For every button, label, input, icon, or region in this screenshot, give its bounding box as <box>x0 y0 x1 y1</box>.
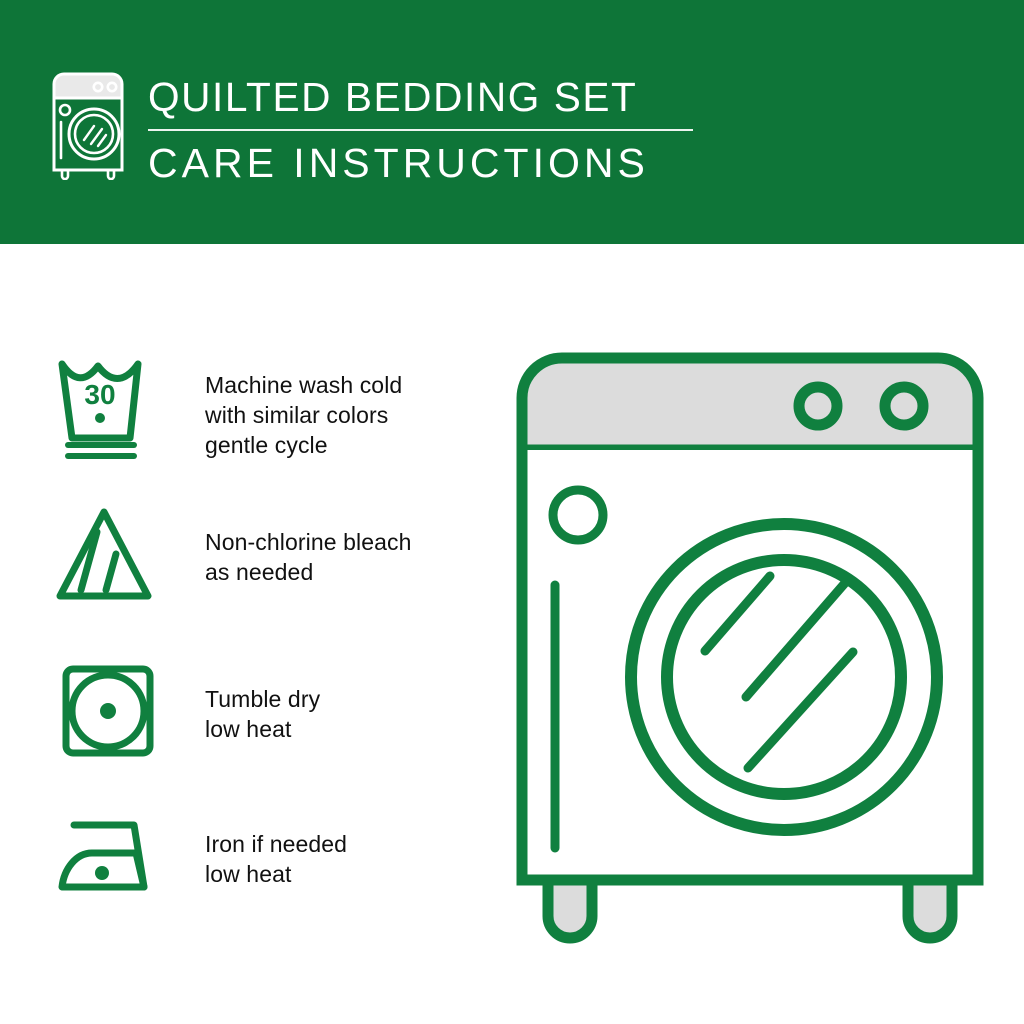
care-row-iron: Iron if needed low heat <box>0 809 490 959</box>
header-band: QUILTED BEDDING SET CARE INSTRUCTIONS <box>0 0 1024 244</box>
title-divider <box>148 129 693 131</box>
control-panel <box>522 358 978 450</box>
leg-left <box>548 880 592 938</box>
care-text-tumble-dry: Tumble dry low heat <box>205 684 320 744</box>
machine-body <box>522 450 978 880</box>
washing-machine-illustration <box>500 340 1000 960</box>
care-text-wash: Machine wash cold with similar colors ge… <box>205 370 402 460</box>
washing-machine-icon <box>46 72 130 180</box>
header-title-block: QUILTED BEDDING SET CARE INSTRUCTIONS <box>148 74 708 187</box>
tumble-dry-low-heat-icon <box>52 659 164 769</box>
iron-low-heat-icon <box>52 809 164 919</box>
page-subtitle: CARE INSTRUCTIONS <box>148 139 708 187</box>
care-text-bleach: Non-chlorine bleach as needed <box>205 527 411 587</box>
leg-right <box>908 880 952 938</box>
svg-text:30: 30 <box>84 379 115 410</box>
wash-tub-30-gentle-icon: 30 <box>52 352 164 462</box>
page-title: QUILTED BEDDING SET <box>148 74 702 120</box>
triangle-non-chlorine-bleach-icon <box>52 502 164 612</box>
care-instructions-infographic: QUILTED BEDDING SET CARE INSTRUCTIONS 30 <box>0 0 1024 1024</box>
care-text-iron: Iron if needed low heat <box>205 829 347 889</box>
care-row-bleach: Non-chlorine bleach as needed <box>0 502 490 652</box>
care-row-tumble-dry: Tumble dry low heat <box>0 659 490 809</box>
care-instructions-list: 30 Machine wash cold with similar colors… <box>0 244 500 1024</box>
care-row-wash: 30 Machine wash cold with similar colors… <box>0 352 490 502</box>
